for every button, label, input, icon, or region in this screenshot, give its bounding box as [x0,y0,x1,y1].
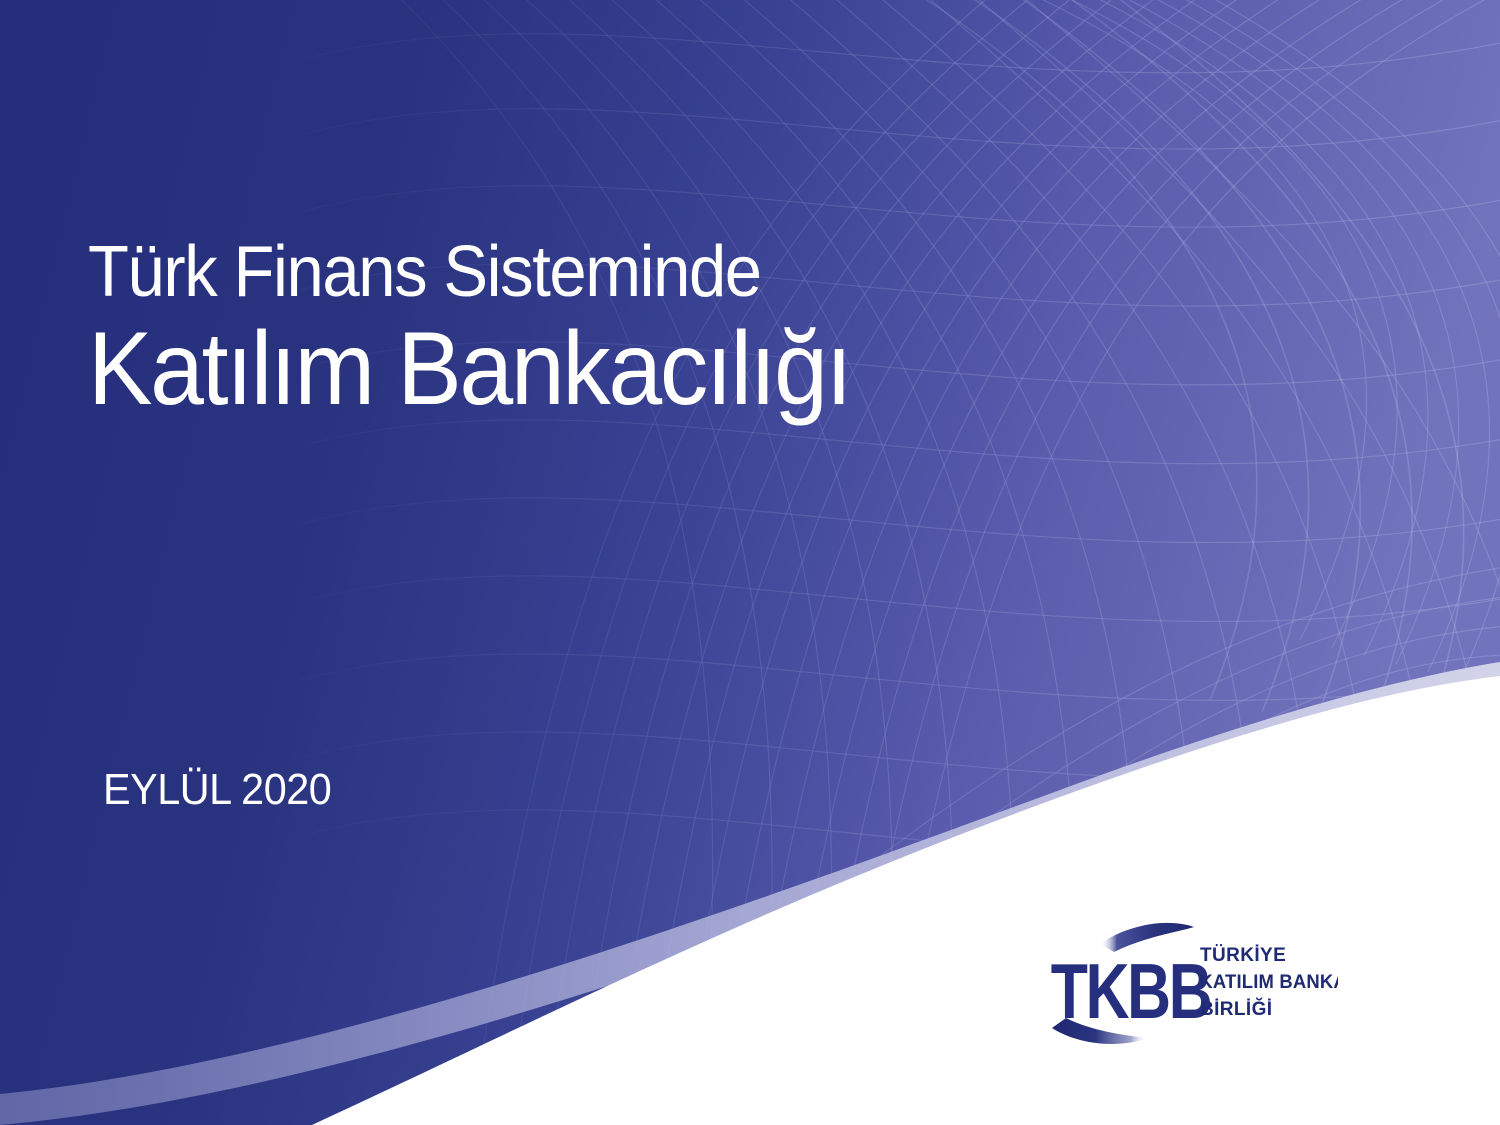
page-title-line-1: Türk Finans Sisteminde [88,236,1018,309]
logo-wordmark: TKBB [1051,948,1211,1035]
presentation-slide: Türk Finans Sisteminde Katılım Bankacılı… [0,0,1500,1125]
logo-name-line-2: KATILIM BANKALARI [1199,971,1338,992]
title-block: Türk Finans Sisteminde Katılım Bankacılı… [88,236,1088,426]
page-title-line-2: Katılım Bankacılığı [88,313,1018,425]
logo-name-line-3: BİRLİĞİ [1200,998,1272,1020]
logo-name-line-1: TÜRKİYE [1200,945,1286,966]
tkbb-logo: TKBB TÜRKİYE KATILIM BANKALARI BİRLİĞİ [1018,918,1338,1048]
slide-date: EYLÜL 2020 [103,765,331,815]
tkbb-logo-artwork: TKBB TÜRKİYE KATILIM BANKALARI BİRLİĞİ [1018,918,1338,1048]
